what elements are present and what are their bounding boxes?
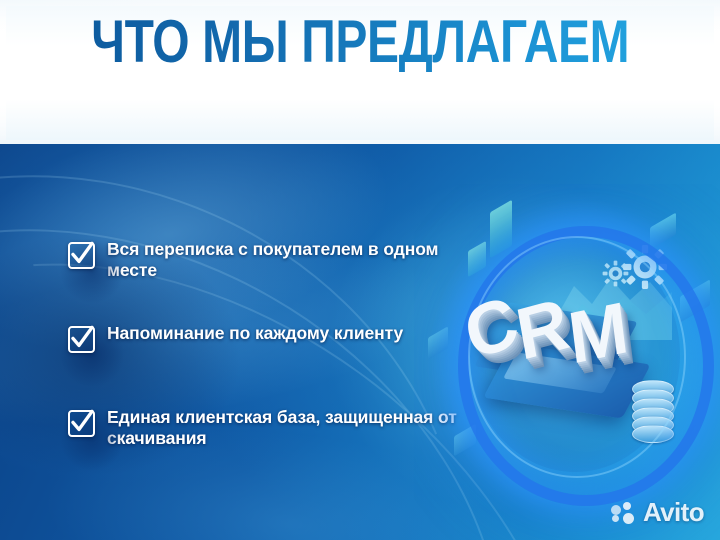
list-item: Единая клиентская база, защищенная от ск… xyxy=(68,407,468,465)
main-blue-panel: Вся переписка с покупателем в одном мест… xyxy=(0,144,720,540)
crm-artwork: CRM xyxy=(414,184,720,540)
page-title-text: ЧТО МЫ ПРЕДЛАГАЕМ xyxy=(91,12,629,72)
checkbox-checked-icon xyxy=(68,242,95,269)
crm-letter-r: R xyxy=(510,283,573,377)
avito-dots-icon xyxy=(611,502,636,524)
crm-letter-m: M xyxy=(564,287,631,381)
avito-watermark: Avito xyxy=(611,497,704,528)
feature-list: Вся переписка с покупателем в одном мест… xyxy=(68,239,468,465)
list-item: Напоминание по каждому клиенту xyxy=(68,323,468,381)
feature-text: Напоминание по каждому клиенту xyxy=(107,323,403,344)
header-band: ЧТО МЫ ПРЕДЛАГАЕМ xyxy=(0,0,720,144)
checkbox-checked-icon xyxy=(68,326,95,353)
page-title: ЧТО МЫ ПРЕДЛАГАЕМ xyxy=(0,42,720,102)
checkbox-checked-icon xyxy=(68,410,95,437)
list-item: Вся переписка с покупателем в одном мест… xyxy=(68,239,468,297)
avito-brand-text: Avito xyxy=(643,497,704,528)
crm-promo-banner: ЧТО МЫ ПРЕДЛАГАЕМ Вся переписка с покупа… xyxy=(0,0,720,540)
